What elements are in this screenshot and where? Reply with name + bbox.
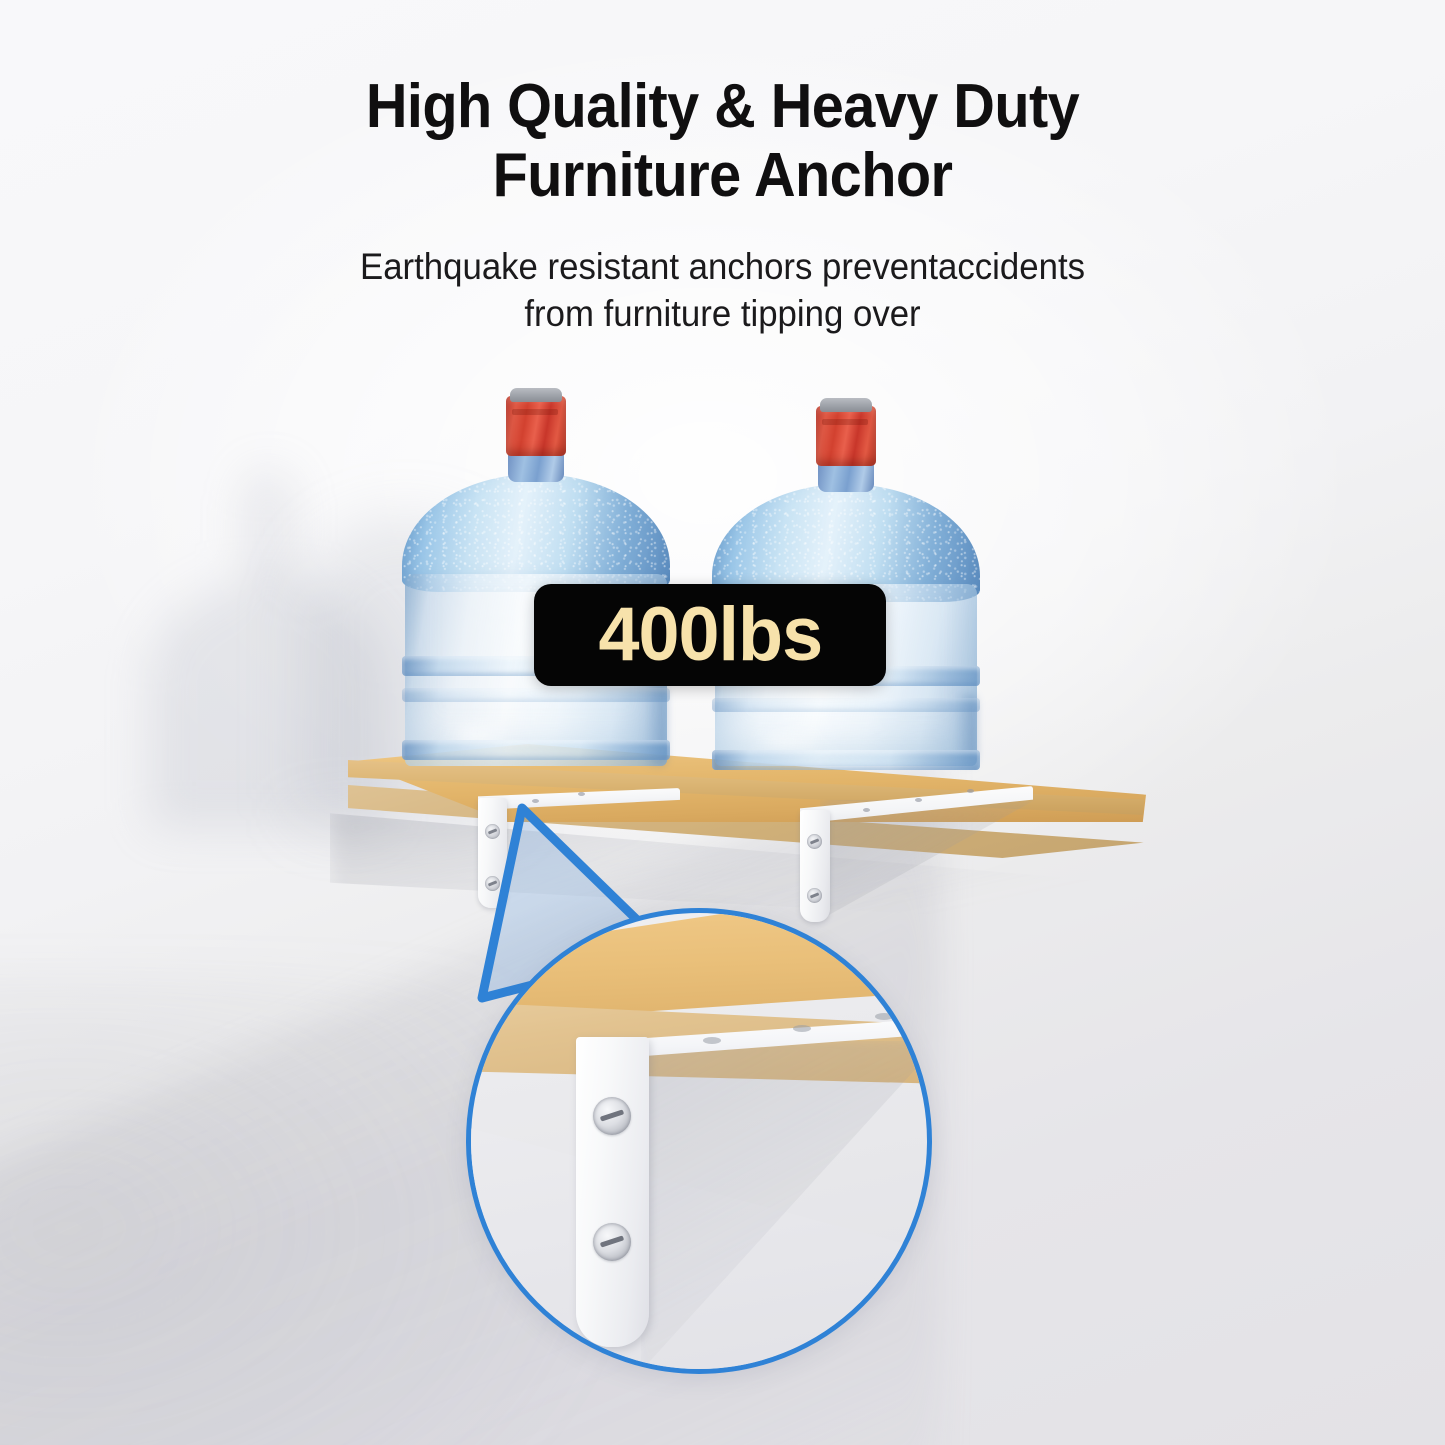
bottle-highlight	[757, 734, 815, 748]
bottle-cap	[506, 396, 566, 456]
zoom-bracket-screw	[593, 1097, 631, 1135]
zoom-bracket-screw-hole	[703, 1037, 721, 1044]
right-l-bracket	[793, 786, 1033, 922]
bottle-rib	[402, 688, 670, 702]
zoom-bracket-screw-hole	[793, 1025, 811, 1032]
page-title: High Quality & Heavy Duty Furniture Anch…	[0, 72, 1445, 211]
bottle-cap-seal	[820, 398, 872, 412]
subheadline-text: Earthquake resistant anchors preventacci…	[43, 243, 1401, 338]
bottle-rib	[712, 698, 980, 712]
bracket-screw-hole	[532, 799, 539, 803]
bottle-cap	[816, 406, 876, 466]
headline-line-2: Furniture Anchor	[51, 141, 1395, 210]
zoom-bracket-screw	[593, 1223, 631, 1261]
bracket-screw	[807, 888, 822, 903]
headline-text: High Quality & Heavy Duty Furniture Anch…	[51, 72, 1395, 211]
bracket-screw-hole	[578, 792, 585, 796]
bottle-rib	[402, 740, 670, 760]
page-subtitle: Earthquake resistant anchors preventacci…	[0, 243, 1445, 338]
subheadline-line-2: from furniture tipping over	[43, 290, 1401, 337]
bottle-cap-seal	[510, 388, 562, 402]
zoom-bracket-vertical-arm	[576, 1037, 649, 1347]
subheadline-line-1: Earthquake resistant anchors preventacci…	[360, 246, 1085, 287]
left-l-bracket	[470, 788, 680, 908]
bracket-vertical-arm	[800, 810, 830, 922]
bracket-screw	[485, 876, 500, 891]
headline-line-1: High Quality & Heavy Duty	[366, 72, 1079, 141]
zoom-bracket-screw-hole	[875, 1013, 893, 1020]
bottle-rib	[712, 750, 980, 770]
bracket-vertical-arm	[478, 798, 507, 908]
shadow-neck	[244, 470, 294, 590]
weight-capacity-badge: 400lbs	[534, 584, 886, 686]
bracket-horizontal-arm	[800, 786, 1033, 826]
bracket-screw-hole	[915, 798, 922, 802]
product-image-canvas: High Quality & Heavy Duty Furniture Anch…	[0, 0, 1445, 1445]
magnified-bracket-detail	[466, 908, 932, 1374]
water-jug-right	[712, 398, 980, 766]
weight-capacity-label: 400lbs	[598, 597, 822, 673]
bracket-screw	[807, 834, 822, 849]
water-jug-left	[402, 388, 670, 766]
bracket-screw-hole	[863, 808, 870, 812]
bracket-screw	[485, 824, 500, 839]
bracket-screw-hole	[967, 789, 974, 793]
